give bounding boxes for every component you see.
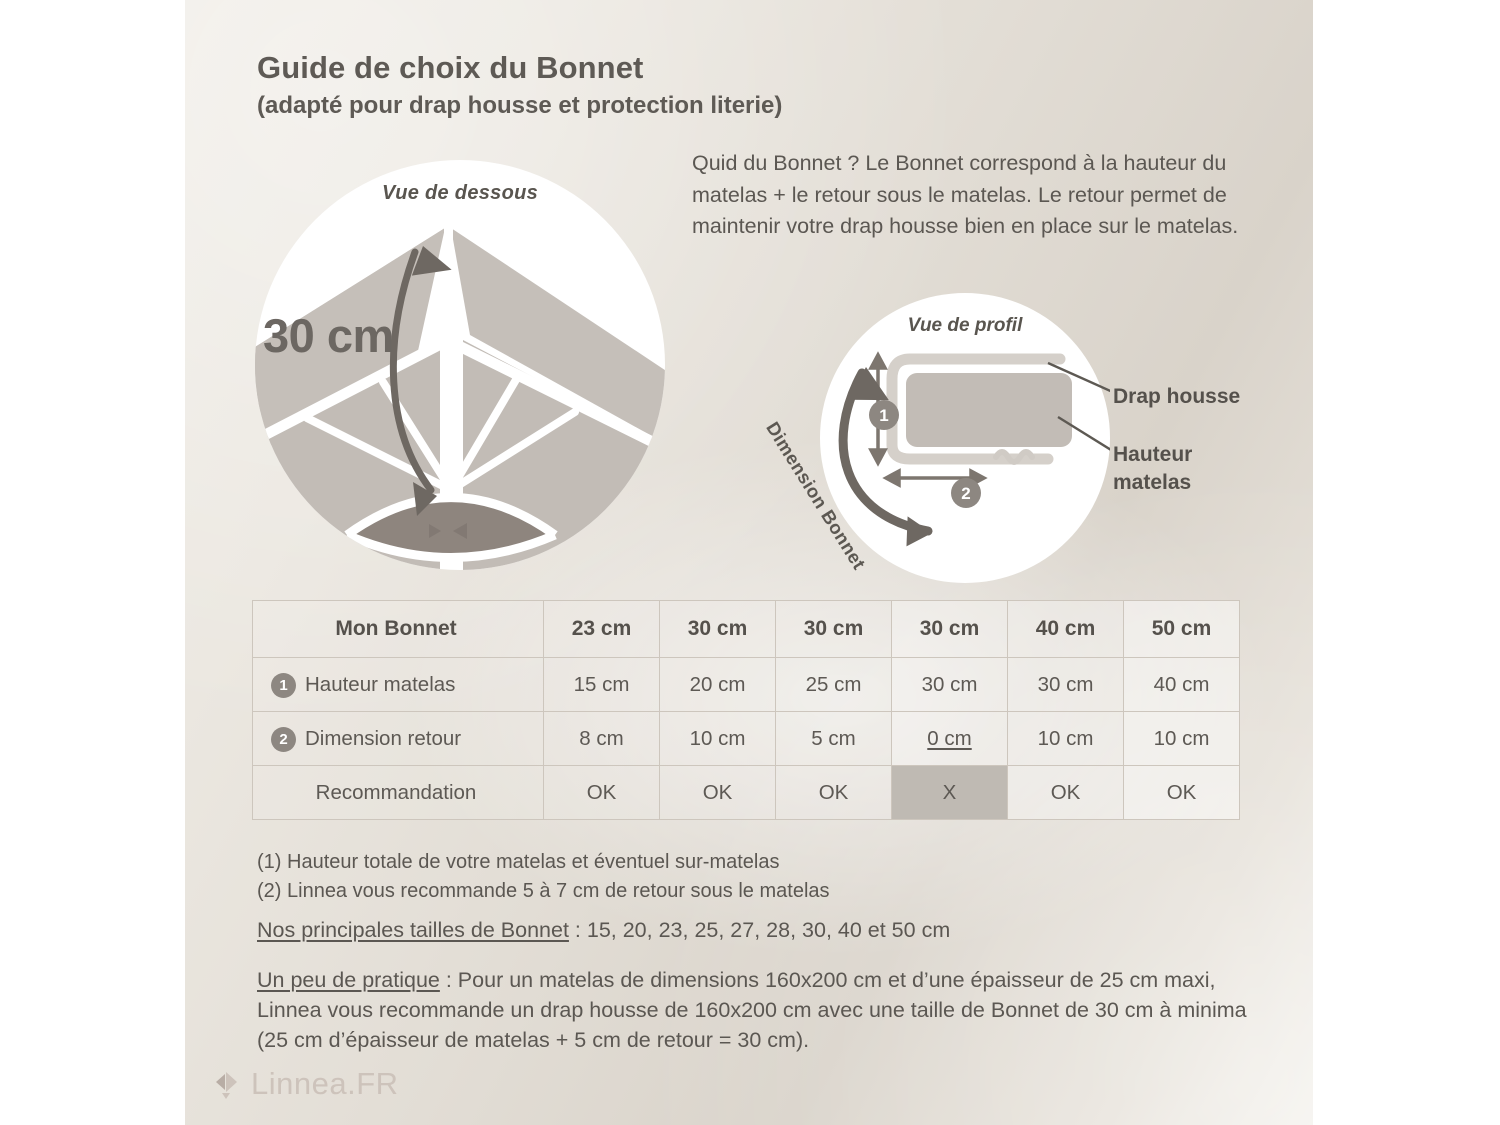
table-row-hauteur: 1 Hauteur matelas 15 cm 20 cm 25 cm 30 c… <box>253 658 1240 712</box>
bonnet-table: Mon Bonnet 23 cm 30 cm 30 cm 30 cm 40 cm… <box>252 600 1240 820</box>
table-cell-bonnet-1: 30 cm <box>660 601 776 658</box>
table-label-hauteur: 1 Hauteur matelas <box>253 658 544 712</box>
linnea-logo-text: Linnea.FR <box>251 1066 399 1102</box>
profile-view-caption: Vue de profil <box>820 315 1110 337</box>
title-line-2: (adapté pour drap housse et protection l… <box>257 89 1157 123</box>
table-cell-reco-3: X <box>892 766 1008 820</box>
intro-paragraph: Quid du Bonnet ? Le Bonnet correspond à … <box>692 148 1262 243</box>
table-cell-reco-4: OK <box>1008 766 1124 820</box>
callout-hauteur-matelas: Hauteur matelas <box>1113 441 1192 497</box>
table-cell-retour-0: 8 cm <box>544 712 660 766</box>
table-row-recommandation: Recommandation OK OK OK X OK OK <box>253 766 1240 820</box>
table-cell-hauteur-3: 30 cm <box>892 658 1008 712</box>
practice-paragraph: Un peu de pratique : Pour un matelas de … <box>257 965 1257 1055</box>
table-label-retour-text: Dimension retour <box>305 727 461 751</box>
table-cell-retour-3: 0 cm <box>892 712 1008 766</box>
table-cell-hauteur-2: 25 cm <box>776 658 892 712</box>
bottom-view-caption: Vue de dessous <box>255 182 665 205</box>
sizes-label: Nos principales tailles de Bonnet <box>257 918 569 942</box>
footnote-2: (2) Linnea vous recommande 5 à 7 cm de r… <box>257 877 830 906</box>
bottom-view-illustration <box>255 160 665 570</box>
table-row-retour: 2 Dimension retour 8 cm 10 cm 5 cm 0 cm … <box>253 712 1240 766</box>
table-header-label: Mon Bonnet <box>253 601 544 658</box>
diagram-profile-view: Vue de profil <box>820 293 1110 583</box>
table-cell-bonnet-4: 40 cm <box>1008 601 1124 658</box>
table-cell-reco-5: OK <box>1124 766 1240 820</box>
title-line-1: Guide de choix du Bonnet <box>257 48 1157 88</box>
page-title: Guide de choix du Bonnet (adapté pour dr… <box>257 48 1157 123</box>
table-cell-retour-5: 10 cm <box>1124 712 1240 766</box>
table-cell-retour-4: 10 cm <box>1008 712 1124 766</box>
table-cell-hauteur-0: 15 cm <box>544 658 660 712</box>
table-cell-hauteur-4: 30 cm <box>1008 658 1124 712</box>
table-label-retour: 2 Dimension retour <box>253 712 544 766</box>
table-cell-bonnet-5: 50 cm <box>1124 601 1240 658</box>
table-cell-reco-0: OK <box>544 766 660 820</box>
table-label-hauteur-text: Hauteur matelas <box>305 673 455 697</box>
callout-hauteur-line-1: Hauteur <box>1113 441 1192 469</box>
table-cell-reco-1: OK <box>660 766 776 820</box>
table-cell-retour-1: 10 cm <box>660 712 776 766</box>
badge-2-table: 2 <box>271 727 296 752</box>
sizes-line: Nos principales tailles de Bonnet : 15, … <box>257 918 950 943</box>
table-cell-retour-2: 5 cm <box>776 712 892 766</box>
footnotes: (1) Hauteur totale de votre matelas et é… <box>257 848 830 905</box>
sizes-value: : 15, 20, 23, 25, 27, 28, 30, 40 et 50 c… <box>569 918 950 942</box>
table-cell-reco-2: OK <box>776 766 892 820</box>
badge-1-table: 1 <box>271 673 296 698</box>
table-label-reco: Recommandation <box>253 766 544 820</box>
bonnet-measure-label: 30 cm <box>263 308 394 363</box>
linnea-diamond-icon <box>212 1069 240 1099</box>
table-cell-bonnet-2: 30 cm <box>776 601 892 658</box>
table-row-header: Mon Bonnet 23 cm 30 cm 30 cm 30 cm 40 cm… <box>253 601 1240 658</box>
diagram-bottom-view: Vue de dessous 30 cm <box>255 160 665 570</box>
table-cell-bonnet-3: 30 cm <box>892 601 1008 658</box>
practice-label: Un peu de pratique <box>257 968 440 992</box>
table-cell-bonnet-0: 23 cm <box>544 601 660 658</box>
table-cell-hauteur-5: 40 cm <box>1124 658 1240 712</box>
infographic-page: Guide de choix du Bonnet (adapté pour dr… <box>0 0 1500 1125</box>
table-cell-hauteur-1: 20 cm <box>660 658 776 712</box>
badge-2-profile: 2 <box>951 478 981 508</box>
callout-drap-housse: Drap housse <box>1113 383 1240 411</box>
table-cell-retour-3-text: 0 cm <box>927 727 971 750</box>
linnea-logo: Linnea.FR <box>212 1066 399 1102</box>
callout-hauteur-line-2: matelas <box>1113 469 1192 497</box>
badge-1-profile: 1 <box>869 400 899 430</box>
footnote-1: (1) Hauteur totale de votre matelas et é… <box>257 848 830 877</box>
